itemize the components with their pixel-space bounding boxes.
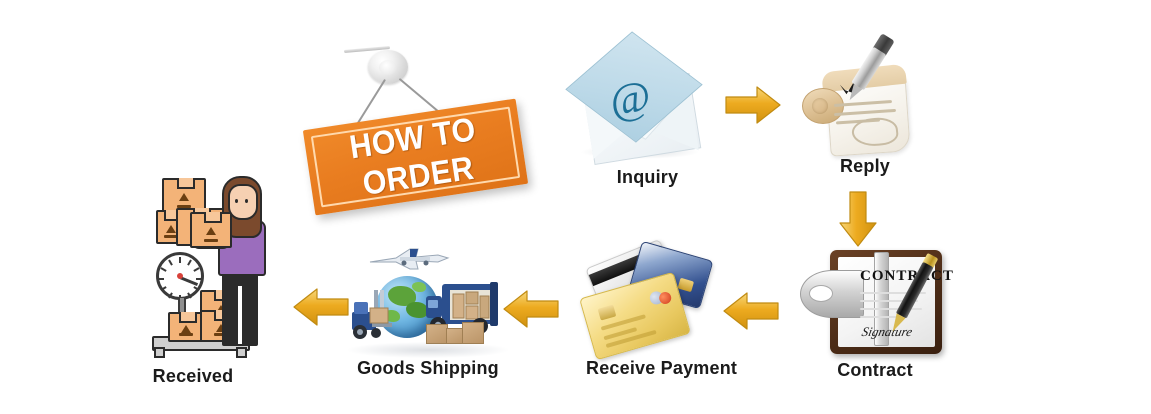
scale-foot: [154, 347, 165, 358]
weighing-scale-dial: [156, 252, 204, 300]
person-face: [228, 184, 258, 220]
scale-hub: [177, 273, 183, 279]
clipboard-clip: [800, 270, 864, 318]
contract-signature: Signature: [860, 324, 913, 340]
card-chip-icon: [678, 278, 694, 292]
arrow-reply-to-contract: [838, 190, 878, 248]
card-chip-icon: [598, 305, 617, 321]
sign-board: HOW TO ORDER: [303, 99, 528, 216]
arrow-payment-to-shipping: [502, 288, 560, 330]
carton-box: [168, 312, 204, 342]
step-goods-shipping-label: Goods Shipping: [348, 358, 508, 379]
floor-reflection: [348, 342, 508, 358]
scale-foot: [236, 347, 247, 358]
step-received[interactable]: Received: [156, 176, 286, 356]
step-receive-payment-label: Receive Payment: [586, 358, 706, 379]
clipboard-hole: [809, 285, 833, 302]
contract-heading: CONTRACT: [860, 268, 954, 285]
arrow-contract-to-payment: [722, 290, 780, 332]
person-legs: [222, 270, 258, 346]
step-contract[interactable]: CONTRACT Signature Contract: [800, 248, 950, 368]
sign-title: HOW TO ORDER: [312, 105, 519, 209]
step-goods-shipping[interactable]: Goods Shipping: [348, 246, 508, 366]
step-contract-label: Contract: [800, 360, 950, 381]
step-inquiry[interactable]: @ Inquiry: [580, 55, 715, 185]
forklift-icon: [348, 290, 396, 338]
airplane-icon: [366, 246, 452, 272]
step-received-label: Received: [128, 366, 258, 387]
step-reply-label: Reply: [800, 156, 930, 177]
at-symbol-icon: @: [606, 70, 654, 127]
cargo-box: [426, 324, 448, 344]
how-to-order-infographic: HOW TO ORDER @ Inquiry: [0, 0, 1151, 414]
carton-box-held: [190, 212, 232, 248]
arrow-inquiry-to-reply: [724, 84, 782, 126]
arrow-shipping-to-received: [292, 286, 350, 328]
contract-rule: [860, 308, 922, 310]
step-inquiry-label: Inquiry: [580, 167, 715, 188]
cargo-box: [462, 322, 484, 344]
step-receive-payment[interactable]: Receive Payment: [586, 248, 706, 363]
how-to-order-sign: HOW TO ORDER: [300, 36, 550, 236]
step-reply[interactable]: Reply: [800, 48, 930, 173]
